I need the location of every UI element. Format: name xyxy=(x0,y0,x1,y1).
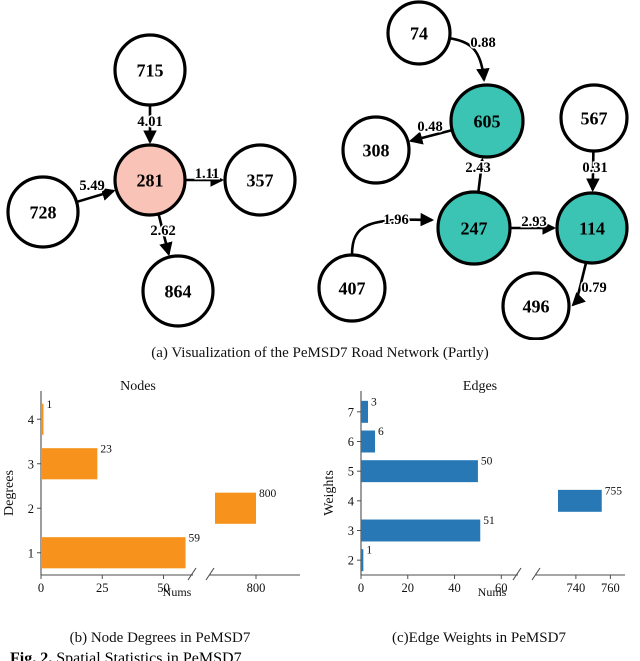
x-tick-label-left-0: 0 xyxy=(38,581,44,595)
network-graph-svg: 71528172835786474605308567247114407496 4… xyxy=(0,0,640,340)
bar-2 xyxy=(361,549,363,571)
y-tick-label-7: 7 xyxy=(348,405,354,419)
bar-value-label-1: 59 xyxy=(189,533,201,545)
x-tick-label-left-0: 0 xyxy=(358,581,364,595)
bar-4 xyxy=(41,404,43,435)
network-edge-weight-247-605: 2.43 xyxy=(465,160,490,176)
x-tick-label-right-740: 740 xyxy=(567,581,586,595)
bar-value-label-3: 51 xyxy=(483,515,495,527)
bar-value-label-2: 1 xyxy=(366,545,372,557)
figure-spatial-statistics: 71528172835786474605308567247114407496 4… xyxy=(0,0,640,661)
y-axis-label: Degrees xyxy=(2,470,17,516)
network-node-label-496: 496 xyxy=(523,297,550,317)
y-tick-label-2: 2 xyxy=(28,502,34,516)
x-axis-label: Nums xyxy=(478,585,507,599)
x-tick-label-left-25: 25 xyxy=(96,581,109,595)
x-tick-label-right-800: 800 xyxy=(247,581,266,595)
network-edge-weight-728-281: 5.49 xyxy=(79,178,104,194)
figure-caption: Fig. 2. Spatial Statistics in PeMSD7 xyxy=(0,650,640,661)
network-node-label-605: 605 xyxy=(474,112,501,132)
network-node-label-715: 715 xyxy=(137,61,164,81)
network-edge-weight-281-357: 1.11 xyxy=(195,166,220,182)
bar-1 xyxy=(41,537,186,568)
network-edge-weight-715-281: 4.01 xyxy=(137,114,162,130)
network-edge-weight-567-114: 0.31 xyxy=(582,160,607,176)
bar-5 xyxy=(361,460,478,482)
network-node-label-114: 114 xyxy=(579,219,605,239)
bar-3 xyxy=(361,520,480,542)
figure-number: Fig. 2. xyxy=(10,650,52,661)
network-edge-weight-247-114: 2.93 xyxy=(521,214,546,230)
bar-value-label-4: 755 xyxy=(605,485,623,497)
bar-value-label-4: 1 xyxy=(46,399,52,411)
network-edge-weight-605-308: 0.48 xyxy=(417,119,442,135)
axis-break-mark-left xyxy=(188,568,196,580)
network-visualization-panel: 71528172835786474605308567247114407496 4… xyxy=(0,0,640,340)
network-node-label-407: 407 xyxy=(339,279,366,299)
axis-break-mark-right xyxy=(206,568,214,580)
bar-value-label-7: 3 xyxy=(371,396,377,408)
y-tick-label-3: 3 xyxy=(348,524,354,538)
network-node-label-357: 357 xyxy=(247,171,274,191)
network-node-label-74: 74 xyxy=(410,24,428,44)
y-tick-label-2: 2 xyxy=(348,554,354,568)
y-tick-label-1: 1 xyxy=(28,546,34,560)
x-tick-label-right-760: 760 xyxy=(601,581,620,595)
network-node-label-247: 247 xyxy=(461,219,488,239)
axis-break-mark-left xyxy=(513,568,521,580)
bar-value-label-5: 50 xyxy=(481,456,493,468)
axis-break-mark-right xyxy=(532,568,540,580)
bar-value-label-6: 6 xyxy=(378,426,384,438)
x-axis-label: Nums xyxy=(163,585,192,599)
network-node-label-864: 864 xyxy=(165,282,192,302)
bar-7 xyxy=(361,401,368,423)
network-edge-weight-74-605: 0.88 xyxy=(470,35,495,51)
y-tick-label-6: 6 xyxy=(348,435,354,449)
network-node-label-728: 728 xyxy=(30,203,57,223)
bar-6 xyxy=(361,431,375,453)
figure-title: Spatial Statistics in PeMSD7 xyxy=(56,650,241,661)
bar-value-label-3: 23 xyxy=(100,444,112,456)
network-node-label-308: 308 xyxy=(363,141,390,161)
y-tick-label-4: 4 xyxy=(28,413,35,427)
bar-2 xyxy=(215,493,256,524)
network-edge-weight-114-496: 0.79 xyxy=(581,280,606,296)
bar-value-label-2: 800 xyxy=(259,488,277,500)
y-tick-label-3: 3 xyxy=(28,457,34,471)
network-edge-weight-281-864: 2.62 xyxy=(150,223,175,239)
chart-title: Nodes xyxy=(120,379,156,394)
network-nodes-group: 71528172835786474605308567247114407496 xyxy=(8,2,627,339)
chart-node-degrees: Nodes59180022331402550800NumsDegrees xyxy=(0,375,320,625)
bar-3 xyxy=(41,448,97,479)
caption-b: (b) Node Degrees in PeMSD7 xyxy=(0,630,320,647)
caption-c: (c)Edge Weights in PeMSD7 xyxy=(318,630,640,647)
x-tick-label-left-20: 20 xyxy=(402,581,415,595)
x-tick-label-left-40: 40 xyxy=(448,581,461,595)
network-node-label-567: 567 xyxy=(581,109,608,129)
caption-a: (a) Visualization of the PeMSD7 Road Net… xyxy=(0,345,640,362)
node-degrees-svg: Nodes59180022331402550800NumsDegrees xyxy=(0,375,320,625)
network-node-label-281: 281 xyxy=(137,171,164,191)
y-tick-label-5: 5 xyxy=(348,465,354,479)
edge-weights-svg: Edges12513755450566370204060740760NumsWe… xyxy=(320,375,640,625)
y-axis-label: Weights xyxy=(322,470,337,516)
bar-4 xyxy=(558,490,602,512)
y-tick-label-4: 4 xyxy=(348,494,355,508)
network-edge-weight-407-247: 1.96 xyxy=(383,212,408,228)
chart-edge-weights: Edges12513755450566370204060740760NumsWe… xyxy=(320,375,640,625)
chart-title: Edges xyxy=(463,379,497,394)
